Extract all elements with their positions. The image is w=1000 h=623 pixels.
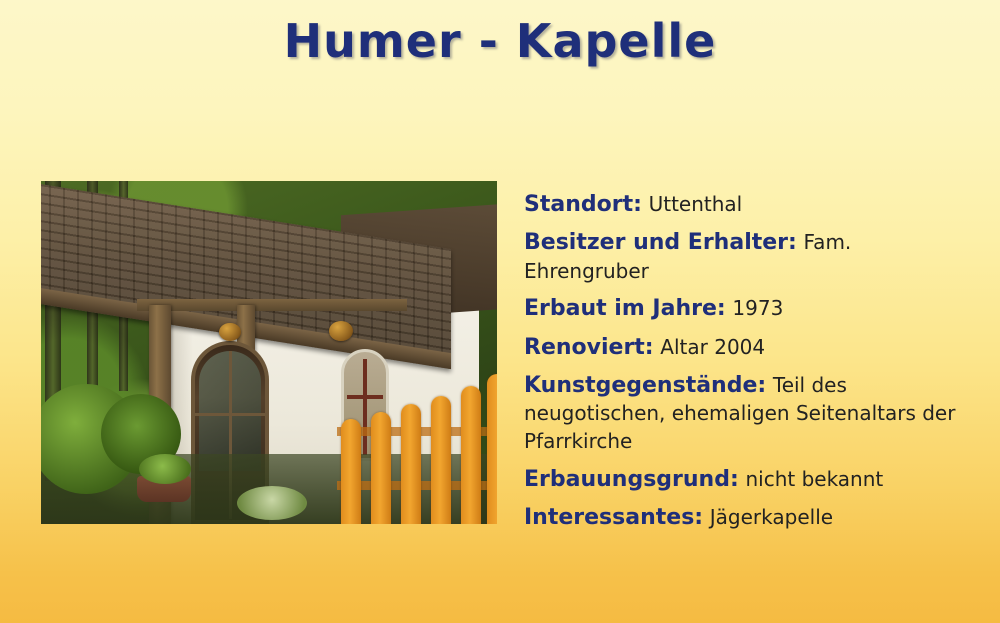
- porch-beam: [137, 299, 407, 311]
- fence-board: [461, 386, 481, 524]
- chapel-photo: [41, 181, 497, 524]
- fact-value: Jägerkapelle: [710, 505, 833, 529]
- fact-erbaut: Erbaut im Jahre: 1973: [524, 294, 976, 323]
- fence-board: [431, 396, 451, 524]
- fact-interessantes: Interessantes: Jägerkapelle: [524, 503, 976, 532]
- fact-label: Standort:: [524, 192, 642, 217]
- fact-value: Altar 2004: [660, 335, 765, 359]
- fact-label: Kunstgegenstände:: [524, 373, 766, 398]
- door-transom: [193, 413, 267, 416]
- window-cross: [347, 395, 383, 399]
- fact-list: Standort: Uttenthal Besitzer und Erhalte…: [524, 190, 976, 542]
- fact-label: Renoviert:: [524, 335, 654, 360]
- plant: [139, 454, 191, 484]
- fact-renoviert: Renoviert: Altar 2004: [524, 333, 976, 362]
- fact-besitzer: Besitzer und Erhalter: Fam. Ehrengruber: [524, 228, 976, 285]
- fact-label: Interessantes:: [524, 505, 703, 530]
- fact-erbauungsgrund: Erbauungsgrund: nicht bekannt: [524, 465, 976, 494]
- fact-standort: Standort: Uttenthal: [524, 190, 976, 219]
- fact-label: Erbauungsgrund:: [524, 467, 739, 492]
- wall-ornament: [219, 323, 241, 341]
- slide: Humer - Kapelle: [0, 0, 1000, 623]
- wall-ornament: [329, 321, 353, 341]
- fence-board: [401, 404, 421, 524]
- fact-value: Uttenthal: [649, 192, 743, 216]
- fact-label: Erbaut im Jahre:: [524, 296, 726, 321]
- fence-board: [341, 419, 361, 524]
- fact-value: 1973: [732, 296, 783, 320]
- fact-value: nicht bekannt: [745, 467, 883, 491]
- fence-board: [487, 374, 497, 524]
- fence-board: [371, 412, 391, 524]
- fact-label: Besitzer und Erhalter:: [524, 230, 797, 255]
- window-cross: [363, 359, 367, 455]
- plant: [237, 486, 307, 520]
- fact-kunstgegenstaende: Kunstgegenstände: Teil des neugotischen,…: [524, 371, 976, 456]
- page-title: Humer - Kapelle: [0, 14, 1000, 68]
